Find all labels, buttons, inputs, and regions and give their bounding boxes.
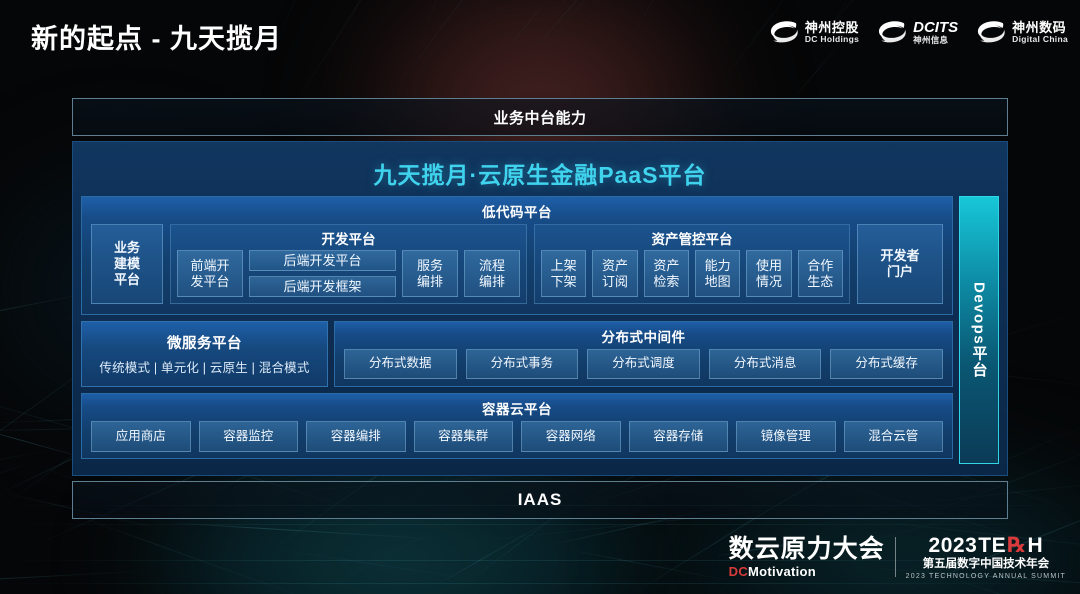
tile-line: 编排 (417, 274, 443, 290)
conference-brand: 数云原力大会 DCMotivation (729, 537, 885, 578)
row-microservice-middleware: 微服务平台 传统模式 | 单元化 | 云原生 | 混合模式 分布式中间件 分布式… (81, 321, 953, 387)
conference-logo-divider (895, 537, 896, 577)
tile-line: 情况 (756, 274, 782, 290)
section-lowcode-header: 低代码平台 (82, 197, 952, 224)
devops-platform-label: Devops平台 (969, 282, 990, 378)
section-distributed-middleware[interactable]: 分布式中间件 分布式数据分布式事务分布式调度分布式消息分布式缓存 (334, 321, 953, 387)
tile-middleware-3[interactable]: 分布式消息 (709, 349, 822, 379)
page-title: 新的起点 - 九天揽月 (31, 17, 282, 56)
group-asset-management-body: 上架下架资产订阅资产检索能力地图使用情况合作生态 (535, 250, 849, 303)
lowcode-row: 业务 建模 平台 开发平台 前端开 发平台 (82, 224, 952, 304)
logo-dcits-en: DCITS (913, 20, 958, 36)
tile-asset-item-0[interactable]: 上架下架 (541, 250, 586, 297)
tile-line: 编排 (479, 274, 505, 290)
tile-line: 订阅 (602, 274, 628, 290)
group-dev-platform-body: 前端开 发平台 后端开发平台 后端开发框架 服务 编排 (171, 250, 526, 303)
tile-asset-item-3[interactable]: 能力地图 (695, 250, 740, 297)
tile-container-7[interactable]: 混合云管 (844, 421, 944, 452)
tile-line: 资产 (653, 258, 679, 274)
conference-tech-lockup: 2023TE℞H 第五届数字中国技术年会 2023 TECHNOLOGY ANN… (906, 535, 1066, 581)
tile-line: 开发者 (880, 248, 919, 264)
tile-asset-item-1[interactable]: 资产订阅 (592, 250, 637, 297)
tile-container-5[interactable]: 容器存储 (629, 421, 729, 452)
dc-swoosh-icon (769, 20, 799, 44)
paas-stack-column: 低代码平台 业务 建模 平台 开发平台 前端开 (81, 196, 953, 464)
logo-dcits: DCITS 神州信息 (877, 20, 958, 45)
slide-header: 新的起点 - 九天揽月 神州控股 DC Holdings DCITS 神州信息 (0, 0, 1080, 72)
architecture-diagram: 业务中台能力 九天揽月·云原生金融PaaS平台 低代码平台 业务 建模 平台 开… (72, 98, 1008, 522)
band-iaas: IAAS (72, 481, 1008, 519)
logo-dc-holdings-text: 神州控股 DC Holdings (805, 21, 859, 44)
tile-line: 下架 (551, 274, 577, 290)
tile-process-orchestration[interactable]: 流程 编排 (464, 250, 520, 297)
tile-line: 资产 (602, 258, 628, 274)
dc-swoosh-icon (976, 20, 1006, 44)
tile-container-6[interactable]: 镜像管理 (736, 421, 836, 452)
paas-platform-panel: 九天揽月·云原生金融PaaS平台 低代码平台 业务 建模 平台 开发平台 (72, 141, 1008, 476)
tile-line: 能力 (705, 258, 731, 274)
swoosh-mark-icon: ℞ (1007, 535, 1026, 556)
conference-brand-en-prefix: DC (729, 564, 748, 579)
tile-middleware-1[interactable]: 分布式事务 (466, 349, 579, 379)
section-middleware-header: 分布式中间件 (335, 322, 952, 349)
tile-line: 地图 (705, 274, 731, 290)
tile-middleware-2[interactable]: 分布式调度 (587, 349, 700, 379)
conference-tech-en: 2023 TECHNOLOGY ANNUAL SUMMIT (906, 573, 1066, 580)
sidebar-devops-platform[interactable]: Devops平台 (959, 196, 999, 464)
tile-container-4[interactable]: 容器网络 (521, 421, 621, 452)
tile-line: 平台 (114, 272, 140, 288)
tile-line: 合作 (807, 258, 833, 274)
tile-frontend-dev-platform[interactable]: 前端开 发平台 (177, 250, 243, 297)
container-items-row: 应用商店容器监控容器编排容器集群容器网络容器存储镜像管理混合云管 (82, 421, 952, 452)
conference-tech-word-b: H (1027, 535, 1043, 556)
band-business-middle-platform: 业务中台能力 (72, 98, 1008, 136)
conference-tech-cn: 第五届数字中国技术年会 (923, 559, 1050, 571)
tile-developer-portal[interactable]: 开发者 门户 (857, 224, 943, 304)
tile-line: 检索 (653, 274, 679, 290)
tile-middleware-0[interactable]: 分布式数据 (344, 349, 457, 379)
microservice-platform-subtitle: 传统模式 | 单元化 | 云原生 | 混合模式 (99, 357, 309, 376)
tile-line: 前端开 (190, 258, 229, 274)
tile-container-0[interactable]: 应用商店 (91, 421, 191, 452)
tile-asset-item-2[interactable]: 资产检索 (644, 250, 689, 297)
section-microservice-platform[interactable]: 微服务平台 传统模式 | 单元化 | 云原生 | 混合模式 (81, 321, 328, 387)
backend-stack: 后端开发平台 后端开发框架 (249, 250, 396, 297)
conference-brand-en: DCMotivation (729, 565, 885, 578)
section-lowcode-platform[interactable]: 低代码平台 业务 建模 平台 开发平台 前端开 (81, 196, 953, 315)
conference-logo: 数云原力大会 DCMotivation 2023TE℞H 第五届数字中国技术年会… (729, 535, 1066, 581)
tile-backend-dev-framework[interactable]: 后端开发框架 (249, 276, 396, 297)
tile-line: 门户 (887, 264, 913, 280)
section-container-cloud-platform[interactable]: 容器云平台 应用商店容器监控容器编排容器集群容器网络容器存储镜像管理混合云管 (81, 393, 953, 459)
logo-digital-china-cn: 神州数码 (1012, 21, 1068, 35)
paas-platform-body: 低代码平台 业务 建模 平台 开发平台 前端开 (81, 196, 999, 464)
conference-brand-en-suffix: Motivation (748, 564, 816, 579)
tile-line: 建模 (114, 256, 140, 272)
logo-dcits-cn: 神州信息 (913, 36, 958, 45)
tile-container-3[interactable]: 容器集群 (414, 421, 514, 452)
logo-dc-holdings: 神州控股 DC Holdings (769, 20, 859, 44)
tile-line: 业务 (114, 240, 140, 256)
tile-business-modeling-platform[interactable]: 业务 建模 平台 (91, 224, 163, 304)
tile-line: 使用 (756, 258, 782, 274)
group-asset-management-platform[interactable]: 资产管控平台 上架下架资产订阅资产检索能力地图使用情况合作生态 (534, 224, 850, 304)
tile-line: 生态 (807, 274, 833, 290)
logo-dc-holdings-cn: 神州控股 (805, 21, 859, 35)
conference-tech-year: 2023 (929, 535, 978, 556)
tile-container-1[interactable]: 容器监控 (199, 421, 299, 452)
tile-line: 发平台 (190, 274, 229, 290)
tile-line: 服务 (417, 258, 443, 274)
microservice-platform-title: 微服务平台 (167, 332, 242, 353)
logo-digital-china-en: Digital China (1012, 35, 1068, 44)
tile-middleware-4[interactable]: 分布式缓存 (830, 349, 943, 379)
tile-asset-item-4[interactable]: 使用情况 (746, 250, 791, 297)
logo-digital-china: 神州数码 Digital China (976, 20, 1068, 44)
section-container-header: 容器云平台 (82, 394, 952, 421)
conference-brand-cn: 数云原力大会 (729, 537, 885, 562)
tile-backend-dev-platform[interactable]: 后端开发平台 (249, 250, 396, 271)
tile-asset-item-5[interactable]: 合作生态 (798, 250, 843, 297)
dc-swoosh-icon (877, 20, 907, 44)
group-asset-management-header: 资产管控平台 (535, 225, 849, 250)
logo-digital-china-text: 神州数码 Digital China (1012, 21, 1068, 44)
corporate-logo-group: 神州控股 DC Holdings DCITS 神州信息 神州数码 Digital… (769, 20, 1068, 45)
conference-tech-word-a: TE (978, 535, 1006, 556)
middleware-items-row: 分布式数据分布式事务分布式调度分布式消息分布式缓存 (335, 349, 952, 379)
conference-tech-title: 2023TE℞H (929, 535, 1044, 556)
tile-container-2[interactable]: 容器编排 (306, 421, 406, 452)
group-dev-platform[interactable]: 开发平台 前端开 发平台 后端开发平台 后端开发框架 (170, 224, 527, 304)
group-dev-platform-header: 开发平台 (171, 225, 526, 250)
tile-line: 流程 (479, 258, 505, 274)
logo-dcits-text: DCITS 神州信息 (913, 20, 958, 45)
tile-line: 上架 (551, 258, 577, 274)
paas-platform-title: 九天揽月·云原生金融PaaS平台 (81, 150, 999, 196)
tile-service-orchestration[interactable]: 服务 编排 (402, 250, 458, 297)
logo-dc-holdings-en: DC Holdings (805, 35, 859, 44)
